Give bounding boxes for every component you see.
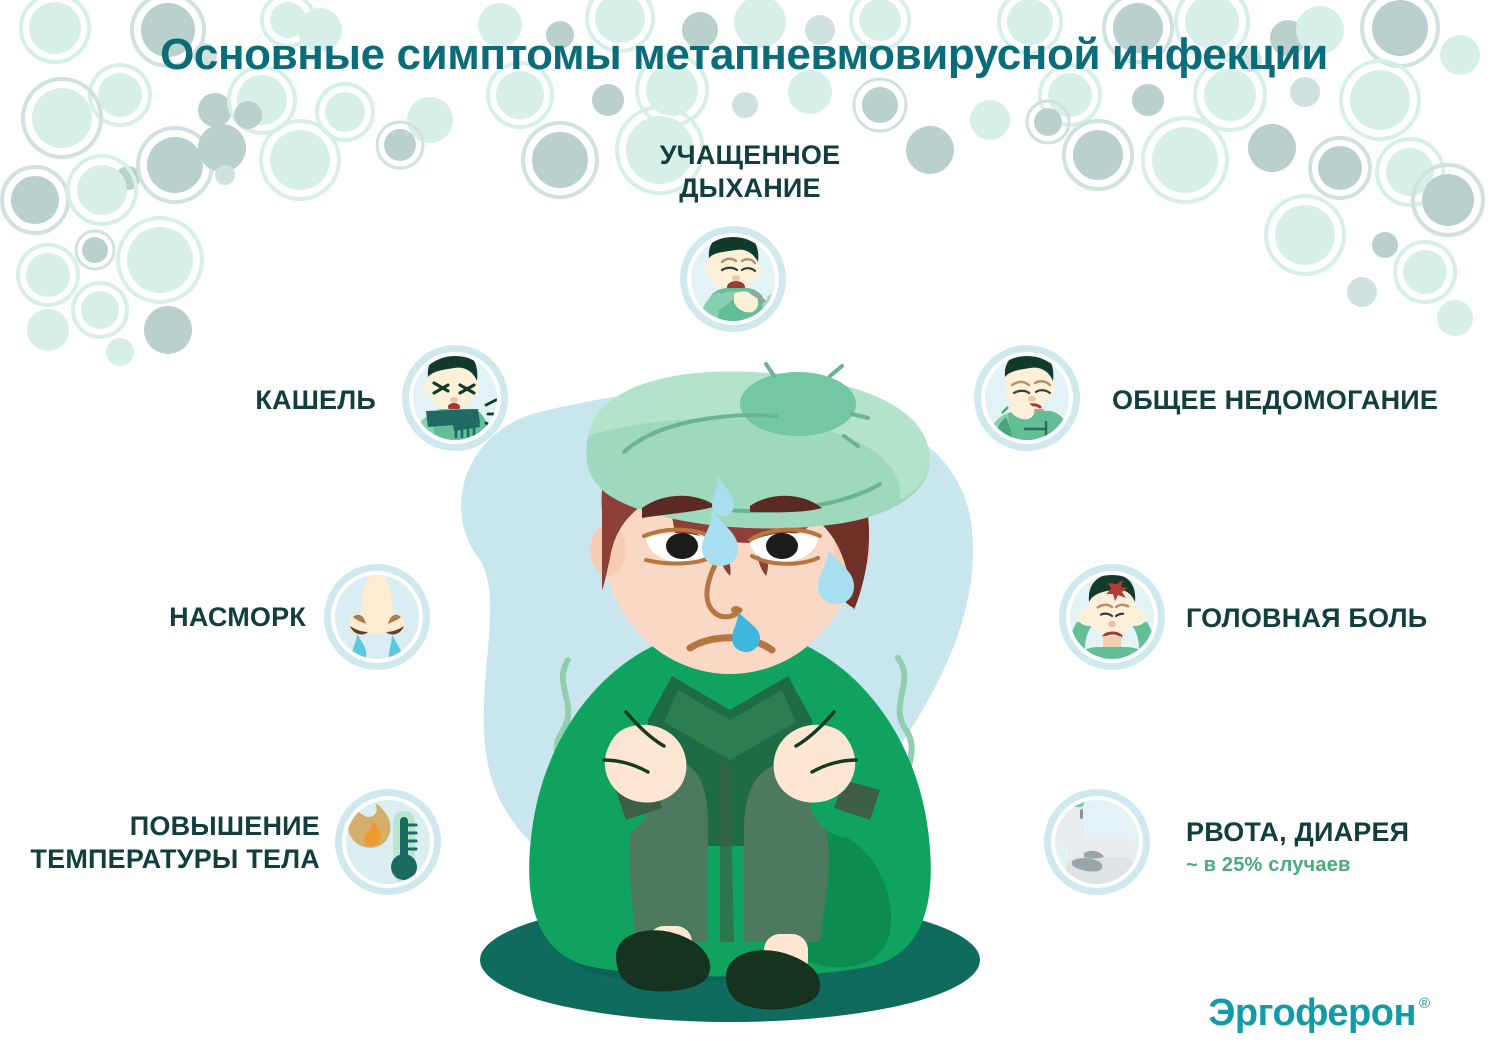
label-cough-text: КАШЕЛЬ bbox=[70, 384, 376, 417]
registered-trademark-icon: ® bbox=[1419, 996, 1430, 1011]
label-runny-nose: НАСМОРК bbox=[0, 601, 306, 634]
label-vomiting-diarrhea: РВОТА, ДИАРЕЯ ~ в 25% случаев bbox=[1186, 816, 1486, 877]
label-runny-nose-text: НАСМОРК bbox=[0, 601, 306, 634]
brand-logo: Эргоферон ® bbox=[1208, 994, 1430, 1032]
headache-icon bbox=[1057, 562, 1167, 672]
label-fever: ПОВЫШЕНИЕ ТЕМПЕРАТУРЫ ТЕЛА bbox=[0, 810, 320, 876]
label-headache: ГОЛОВНАЯ БОЛЬ bbox=[1186, 602, 1486, 635]
fever-icon bbox=[333, 787, 443, 897]
malaise-icon bbox=[972, 343, 1082, 453]
label-fever-line1: ПОВЫШЕНИЕ bbox=[0, 810, 320, 843]
label-headache-text: ГОЛОВНАЯ БОЛЬ bbox=[1186, 602, 1486, 635]
label-malaise-text: ОБЩЕЕ НЕДОМОГАНИЕ bbox=[1112, 384, 1488, 417]
label-cough: КАШЕЛЬ bbox=[70, 384, 376, 417]
label-rapid-breathing: УЧАЩЕННОЕ ДЫХАНИЕ bbox=[540, 139, 960, 205]
runny-nose-icon bbox=[322, 562, 432, 672]
label-rapid-breathing-line1: УЧАЩЕННОЕ bbox=[540, 139, 960, 172]
page-title: Основные симптомы метапневмовирусной инф… bbox=[0, 30, 1488, 80]
rapid-breathing-icon bbox=[678, 224, 788, 334]
label-malaise: ОБЩЕЕ НЕДОМОГАНИЕ bbox=[1112, 384, 1488, 417]
sick-boy-illustration bbox=[420, 360, 1040, 1040]
brand-logo-word: Эргоферон bbox=[1208, 994, 1416, 1032]
infographic-poster: Основные симптомы метапневмовирусной инф… bbox=[0, 0, 1488, 1054]
toilet-icon bbox=[1042, 787, 1152, 897]
label-fever-line2: ТЕМПЕРАТУРЫ ТЕЛА bbox=[0, 843, 320, 876]
label-rapid-breathing-line2: ДЫХАНИЕ bbox=[540, 172, 960, 205]
label-vomiting-text: РВОТА, ДИАРЕЯ bbox=[1186, 816, 1486, 849]
label-vomiting-subtext: ~ в 25% случаев bbox=[1186, 853, 1486, 877]
cough-icon bbox=[400, 343, 510, 453]
